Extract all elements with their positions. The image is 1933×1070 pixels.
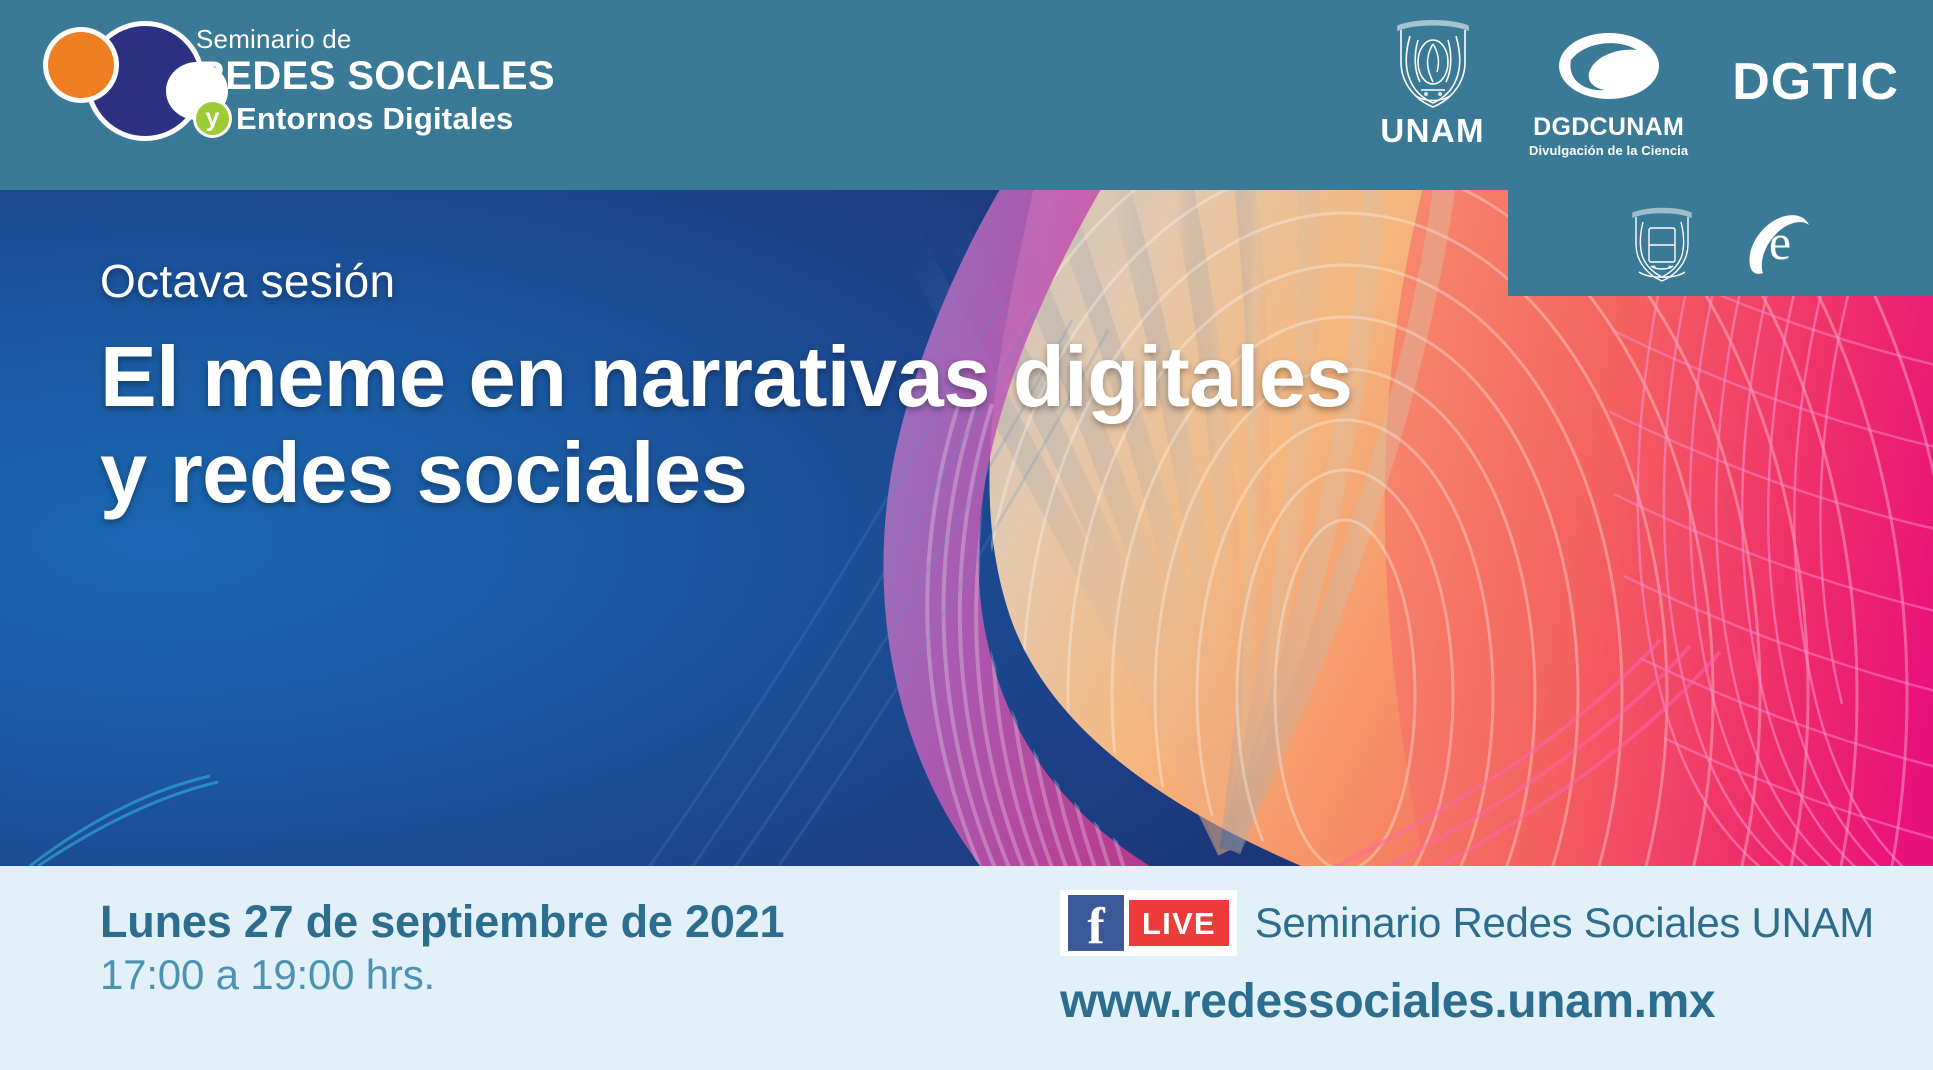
unam-seal-icon <box>1388 10 1478 114</box>
facebook-glyph: f <box>1087 903 1104 951</box>
unam-wordmark: UNAM <box>1380 112 1485 150</box>
cyan-accent <box>30 776 218 866</box>
logo-line-3: Entornos Digitales <box>236 103 513 134</box>
event-schedule: Lunes 27 de septiembre de 2021 17:00 a 1… <box>100 898 784 998</box>
seminario-logo-text: Seminario de REDES SOCIALES y Entornos D… <box>196 26 555 135</box>
title-block: Octava sesión El meme en narrativas digi… <box>100 258 1520 522</box>
dgdc-subtitle: Divulgación de la Ciencia <box>1529 143 1688 158</box>
dgtic-logo: DGTIC <box>1732 10 1899 112</box>
facebook-page-name: Seminario Redes Sociales UNAM <box>1255 902 1874 944</box>
title-line-1: El meme en narrativas digitales <box>100 330 1520 426</box>
footer-bar: Lunes 27 de septiembre de 2021 17:00 a 1… <box>0 866 1933 1070</box>
svg-text:e: e <box>1768 214 1790 270</box>
e-logo-icon: e <box>1743 207 1817 279</box>
event-poster: Octava sesión El meme en narrativas digi… <box>0 0 1933 1070</box>
facultad-seal-icon <box>1625 200 1699 286</box>
live-label: LIVE <box>1129 900 1229 946</box>
title-line-2: y redes sociales <box>100 426 1520 522</box>
institution-logos: UNAM DGDCUNAM Divulgación de la Ciencia … <box>1380 10 1899 158</box>
logo-y-badge: y <box>196 102 229 135</box>
dgdc-eye-icon <box>1555 26 1663 110</box>
dgtic-wordmark: DGTIC <box>1732 52 1899 112</box>
dgdc-wordmark: DGDCUNAM <box>1533 113 1684 142</box>
header-bar: Seminario de REDES SOCIALES y Entornos D… <box>0 0 1933 190</box>
event-time: 17:00 a 19:00 hrs. <box>100 952 784 998</box>
logo-line-2: REDES SOCIALES <box>196 54 555 99</box>
event-date: Lunes 27 de septiembre de 2021 <box>100 898 784 946</box>
website-url[interactable]: www.redessociales.unam.mx <box>1060 978 1874 1026</box>
session-kicker: Octava sesión <box>100 258 1520 304</box>
dgdc-logo: DGDCUNAM Divulgación de la Ciencia <box>1529 10 1688 158</box>
facebook-icon[interactable]: f <box>1068 895 1124 951</box>
logo-line-1: Seminario de <box>196 26 555 52</box>
secondary-logo-panel: e <box>1508 190 1933 296</box>
facebook-live-badge[interactable]: f LIVE <box>1060 890 1237 956</box>
seminario-logo-icon <box>38 14 198 154</box>
broadcast-info: f LIVE Seminario Redes Sociales UNAM www… <box>1060 890 1874 1026</box>
page-title: El meme en narrativas digitales y redes … <box>100 330 1520 522</box>
unam-logo: UNAM <box>1380 10 1485 150</box>
logo-orange-circle <box>48 32 114 98</box>
